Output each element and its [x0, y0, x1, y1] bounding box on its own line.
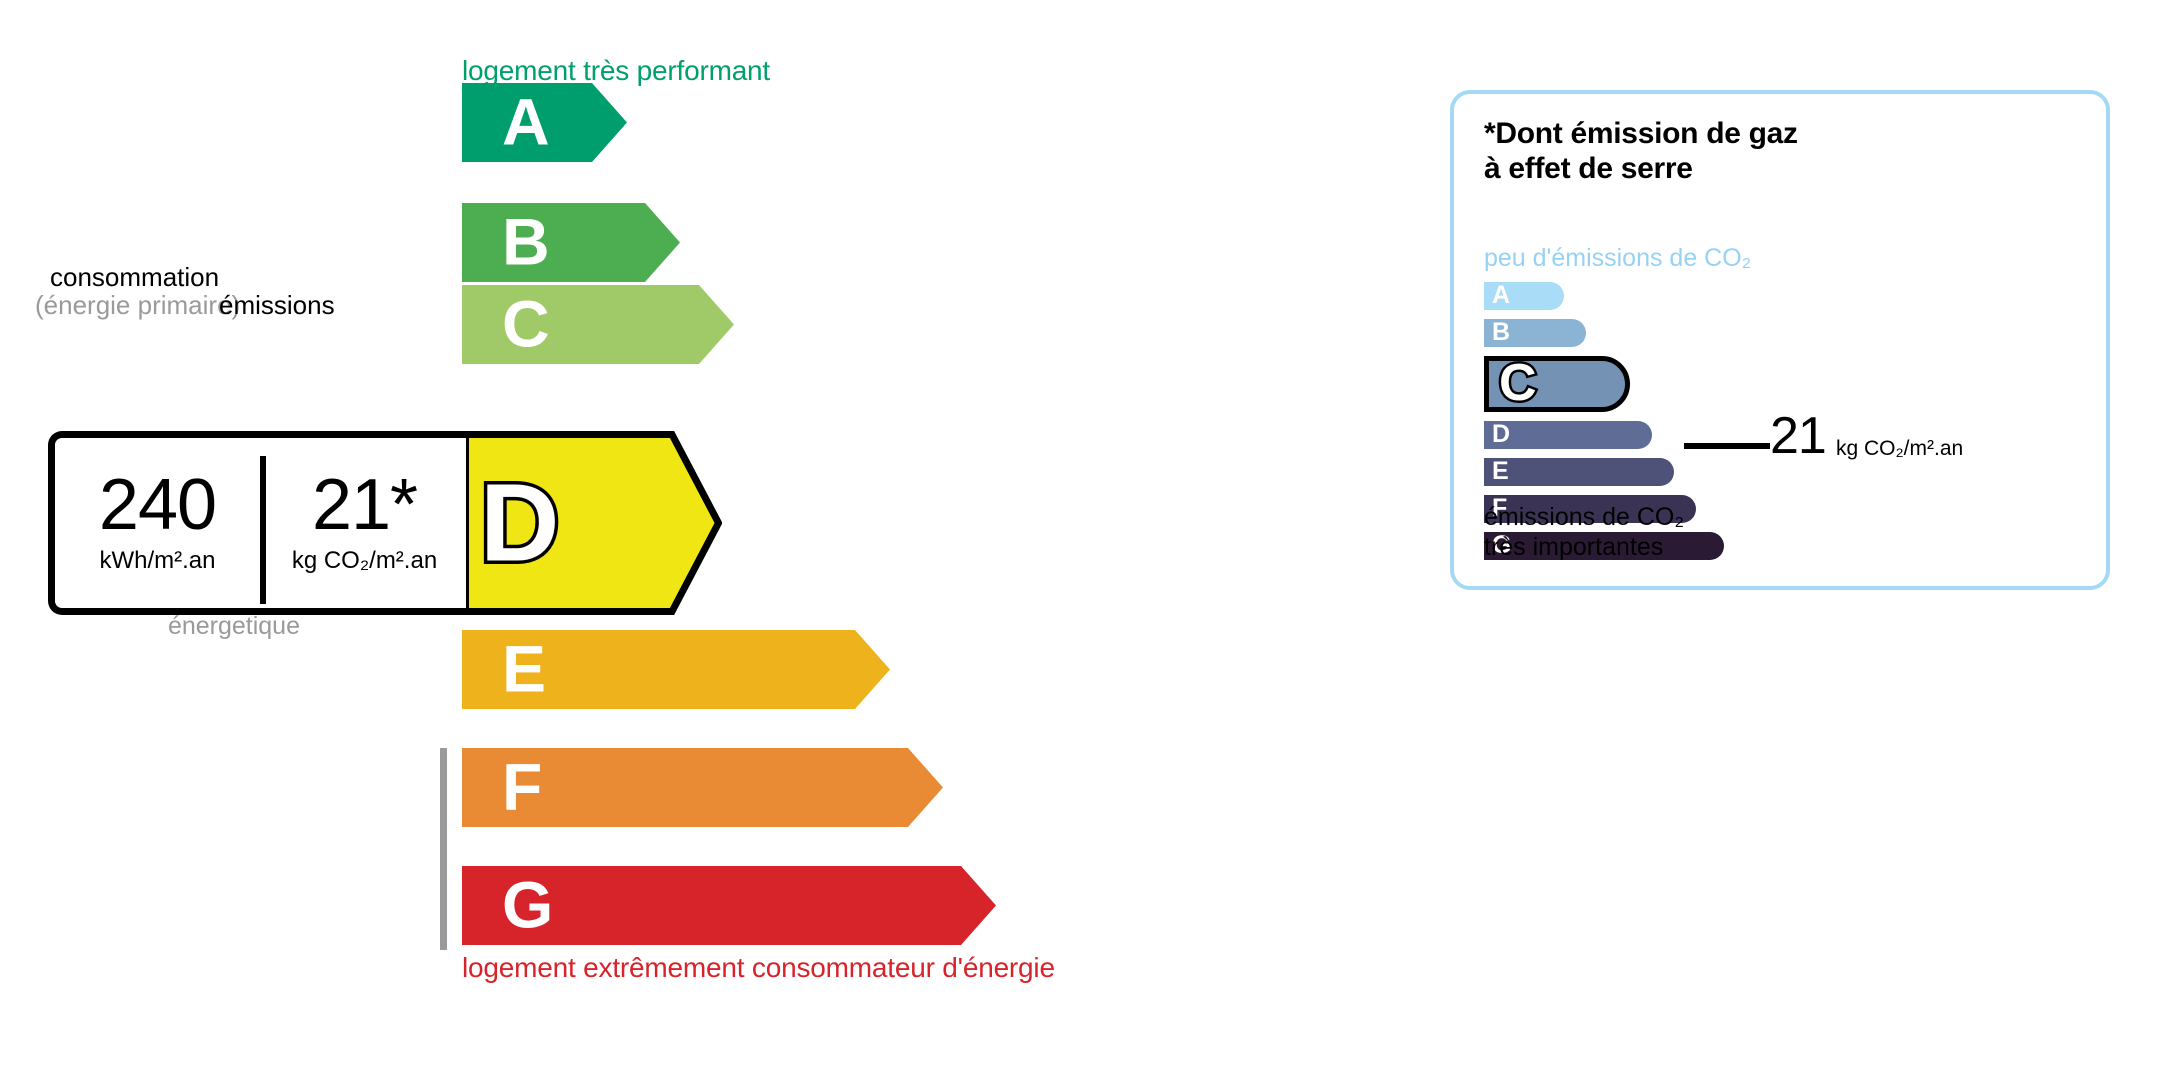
ghg-bar-c-letter: C: [1499, 357, 1537, 409]
energy-band-c[interactable]: C: [462, 285, 734, 364]
emission-unit: kg CO₂/m².an: [292, 547, 437, 575]
energy-band-d-shape: D: [462, 431, 722, 615]
ghg-bar-b[interactable]: B: [1484, 319, 1586, 347]
passoire-line2: énergetique: [0, 611, 300, 642]
value-box: 240 kWh/m².an 21* kg CO₂/m².an: [48, 431, 466, 615]
ghg-legend-bottom-line2: très importantes: [1484, 532, 1684, 562]
energy-bottom-caption: logement extrêmement consommateur d'éner…: [462, 952, 1055, 984]
ghg-legend-top: peu d'émissions de CO₂: [1484, 244, 1751, 273]
consumption-value: 240: [99, 471, 216, 539]
energy-band-f[interactable]: F: [462, 748, 943, 827]
energy-band-g[interactable]: G: [462, 866, 996, 945]
consumption-value-cell: 240 kWh/m².an: [55, 438, 260, 608]
consumption-unit: kWh/m².an: [99, 547, 215, 575]
ghg-legend-bottom-line1: émissions de CO₂: [1484, 502, 1684, 532]
consommation-sublabel: (énergie primaire): [35, 290, 240, 321]
ghg-panel-title: *Dont émission de gaz à effet de serre: [1484, 116, 1798, 187]
ghg-callout-value: 21: [1770, 410, 1826, 462]
ghg-callout-leader-line: [1684, 443, 1770, 449]
ghg-bar-a[interactable]: A: [1484, 282, 1564, 310]
ghg-emissions-panel: *Dont émission de gaz à effet de serre p…: [1450, 90, 2110, 590]
emission-value-cell: 21* kg CO₂/m².an: [267, 438, 462, 608]
emissions-label: émissions: [219, 290, 335, 321]
ghg-callout-unit: kg CO₂/m².an: [1836, 437, 1963, 461]
ghg-bar-a-letter: A: [1492, 283, 1510, 308]
ghg-legend-bottom: émissions de CO₂ très importantes: [1484, 502, 1684, 562]
energy-band-b-shape: [462, 203, 680, 282]
energy-band-a-letter: A: [502, 88, 550, 154]
energy-band-e-letter: E: [502, 635, 546, 701]
ghg-bar-e-letter: E: [1492, 459, 1509, 484]
ghg-bar-c-current[interactable]: C: [1484, 356, 1630, 412]
energy-band-b-letter: B: [502, 208, 550, 274]
ghg-bar-e[interactable]: E: [1484, 458, 1674, 486]
energy-band-e[interactable]: E: [462, 630, 890, 709]
ghg-title-line1: *Dont émission de gaz: [1484, 116, 1798, 151]
energy-band-c-letter: C: [502, 290, 550, 356]
ghg-title-line2: à effet de serre: [1484, 151, 1798, 186]
passoire-energetique-bracket: [440, 748, 447, 950]
energy-band-f-letter: F: [502, 753, 542, 819]
ghg-bar-d-letter: D: [1492, 422, 1510, 447]
consommation-label: consommation: [50, 262, 219, 293]
value-box-divider: [260, 456, 266, 604]
energy-band-d[interactable]: D: [462, 431, 722, 615]
ghg-bar-d[interactable]: D: [1484, 421, 1652, 449]
energy-band-g-letter: G: [502, 871, 553, 937]
ghg-bar-b-letter: B: [1492, 320, 1510, 345]
energy-band-b[interactable]: B: [462, 203, 680, 282]
energy-band-a[interactable]: A: [462, 83, 627, 162]
emission-value: 21*: [312, 471, 417, 539]
energy-band-d-letter: D: [480, 462, 559, 585]
dpe-energy-diagram: logement très performant A B C E F: [0, 0, 1400, 1079]
